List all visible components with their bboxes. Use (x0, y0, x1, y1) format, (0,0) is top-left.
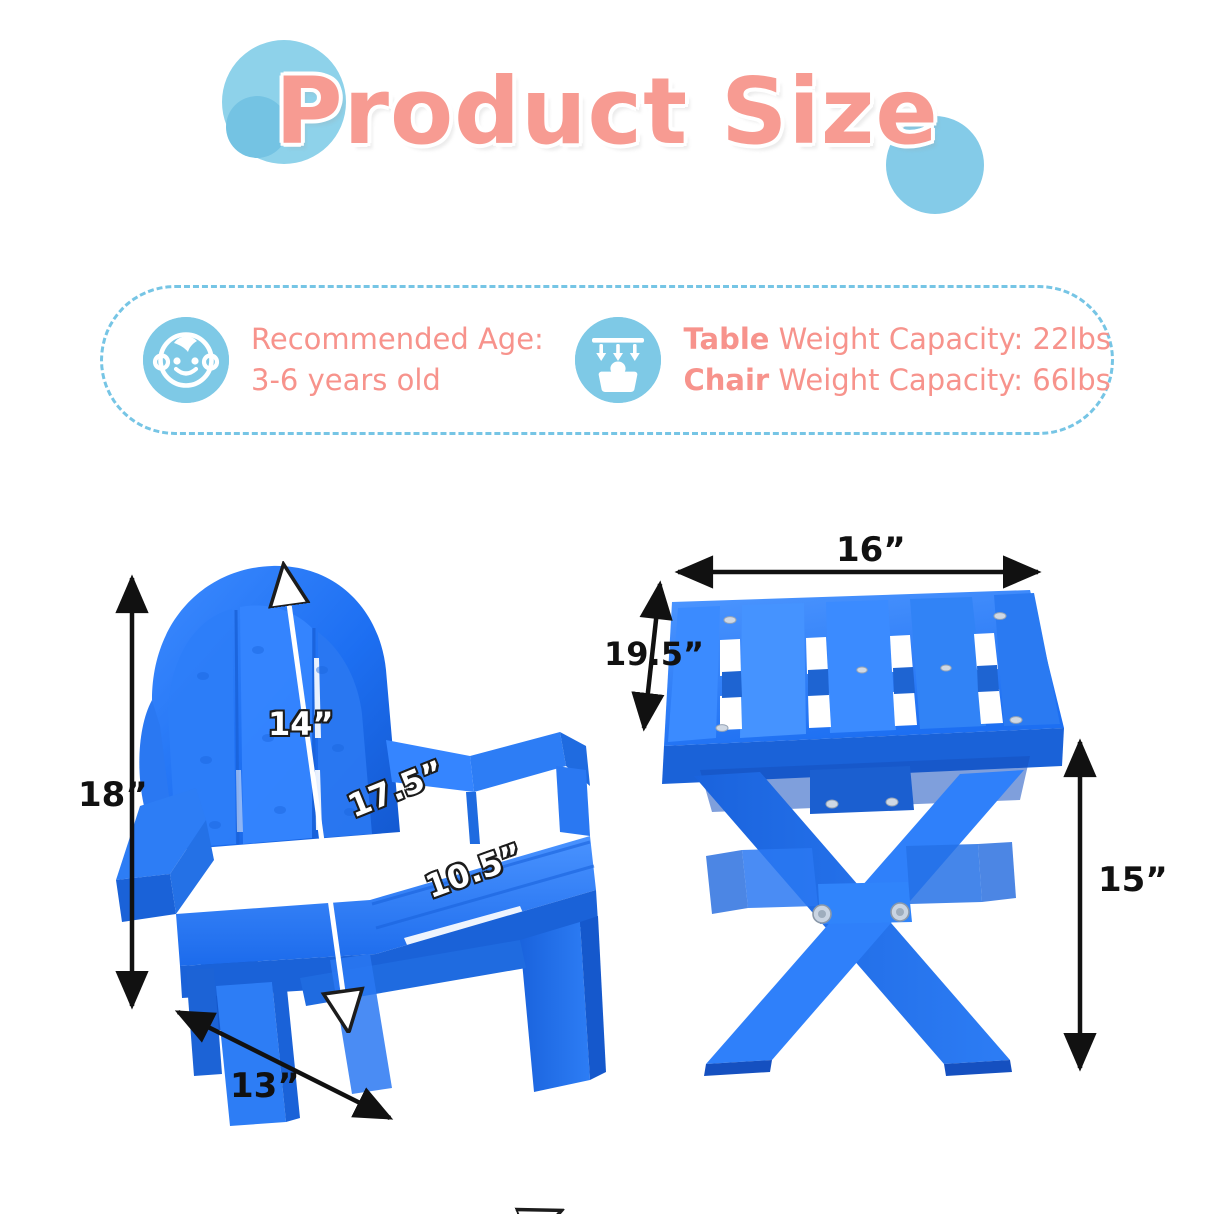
weight-capacity-text: Table Weight Capacity: 22lbs Chair Weigh… (683, 319, 1111, 401)
kids-adirondack-chair (0, 470, 1214, 1214)
spec-recommended-age: Recommended Age: 3-6 years old (143, 317, 557, 403)
weight-capacity-icon (575, 317, 661, 403)
dim-label-table-depth: 19.5” (604, 635, 704, 673)
table-shape (662, 590, 1064, 1076)
recommended-age-line2: 3-6 years old (251, 360, 544, 401)
chair-weight-bold: Chair (683, 363, 769, 397)
dim-label-chair-height: 18” (78, 775, 148, 815)
page-title: Product Size (0, 58, 1214, 165)
baby-face-icon (143, 317, 229, 403)
dim-label-chair-width: 13” (230, 1066, 300, 1106)
table-weight-line: Table Weight Capacity: 22lbs (683, 319, 1111, 360)
table-weight-bold: Table (683, 322, 769, 356)
product-illustrations: 18” 14” 17.5” 10.5” 13” 16” 19.5” 15” (0, 470, 1214, 1214)
dim-label-table-width: 16” (836, 530, 906, 570)
dim-label-chair-back-height: 14” (268, 705, 334, 743)
chair-weight-line: Chair Weight Capacity: 66lbs (683, 360, 1111, 401)
specs-info-box: Recommended Age: 3-6 years old (100, 285, 1114, 435)
table-weight-rest: Weight Capacity: 22lbs (769, 322, 1111, 356)
spec-weight-capacity: Table Weight Capacity: 22lbs Chair Weigh… (575, 317, 1111, 403)
chair-weight-rest: Weight Capacity: 66lbs (769, 363, 1111, 397)
header-banner: Product Size (0, 0, 1214, 262)
chair-shape (116, 566, 606, 1126)
recommended-age-text: Recommended Age: 3-6 years old (251, 319, 544, 401)
dim-label-table-height: 15” (1098, 860, 1168, 900)
recommended-age-line1: Recommended Age: (251, 319, 544, 360)
